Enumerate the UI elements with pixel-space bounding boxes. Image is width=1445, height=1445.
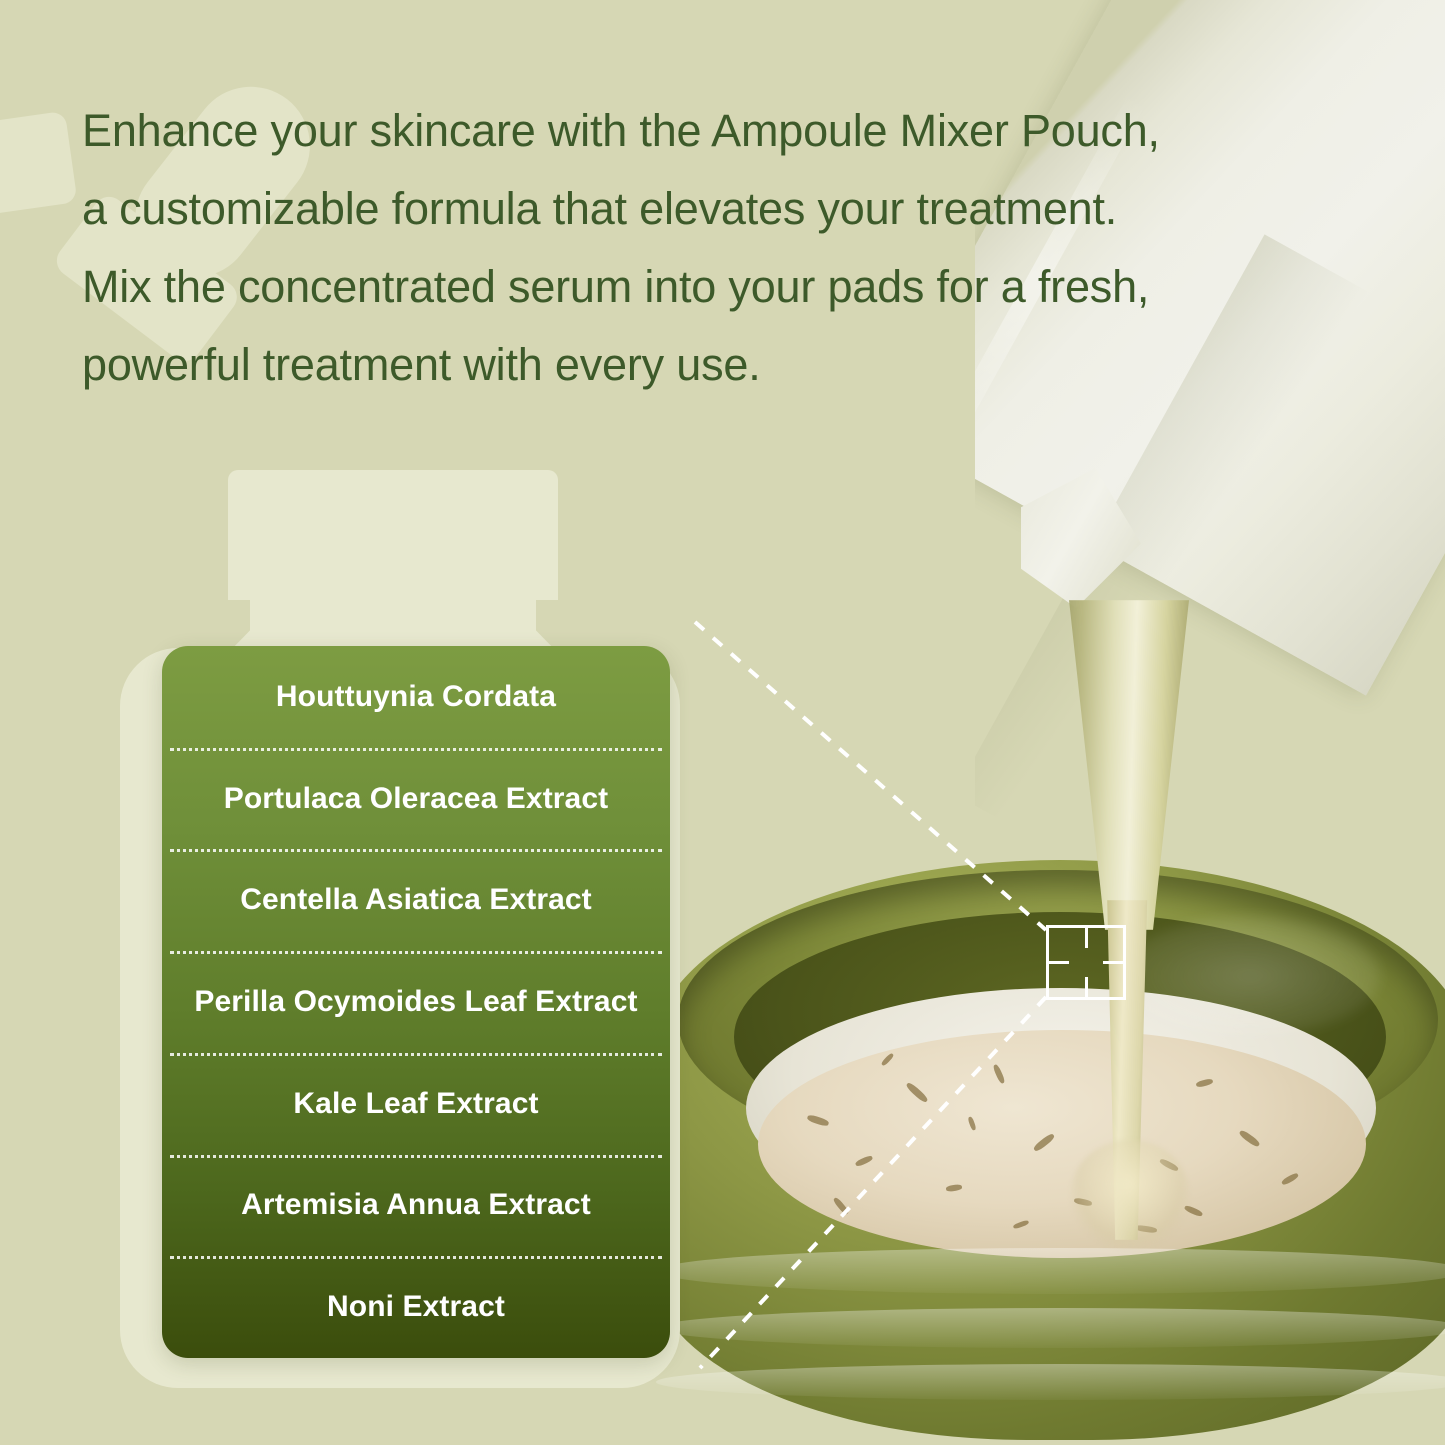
jar-rim: [678, 870, 1438, 1170]
headline-copy: Enhance your skincare with the Ampoule M…: [82, 92, 1382, 404]
headline-line-4: powerful treatment with every use.: [82, 326, 1382, 404]
bottle-cap-lip-right: [438, 496, 470, 558]
promo-banner: Houttuynia Cordata Portulaca Oleracea Ex…: [0, 0, 1445, 1445]
headline-line-3: Mix the concentrated serum into your pad…: [82, 248, 1382, 326]
ingredient-label: Centella Asiatica Extract: [240, 883, 592, 917]
jar-ring-middle: [656, 1308, 1445, 1348]
headline-line-1: Enhance your skincare with the Ampoule M…: [82, 92, 1382, 170]
callout-line-upper: [695, 622, 1046, 930]
pouch-spout: [1021, 468, 1141, 608]
bottle-cap: [228, 470, 558, 600]
headline-line-2: a customizable formula that elevates you…: [82, 170, 1382, 248]
pour-stream-upper: [1060, 600, 1210, 930]
ingredient-label: Perilla Ocymoides Leaf Extract: [194, 985, 637, 1019]
ingredient-label: Portulaca Oleracea Extract: [224, 782, 608, 816]
ingredient-item-6: Artemisia Annua Extract: [162, 1155, 670, 1257]
jar-ring-upper: [656, 1248, 1445, 1294]
jar-pad-stack: [746, 988, 1376, 1228]
ingredient-item-1: Houttuynia Cordata: [162, 646, 670, 748]
jar-highlight: [1120, 916, 1380, 1036]
serum-pour-stream: [1030, 600, 1260, 1240]
pour-splash: [1070, 1140, 1190, 1250]
ingredient-item-4: Perilla Ocymoides Leaf Extract: [162, 951, 670, 1053]
ingredient-item-3: Centella Asiatica Extract: [162, 849, 670, 951]
jar-liquid-surface: [758, 1030, 1366, 1258]
focus-reticle-icon: [1046, 925, 1126, 1000]
ingredient-item-7: Noni Extract: [162, 1256, 670, 1358]
ingredient-label: Houttuynia Cordata: [276, 680, 556, 714]
reticle-tick-left: [1049, 961, 1069, 964]
reticle-tick-bottom: [1085, 977, 1088, 997]
ingredient-item-5: Kale Leaf Extract: [162, 1053, 670, 1155]
jar-ring-lower: [656, 1364, 1445, 1400]
callout-line-lower: [700, 997, 1046, 1368]
dropper-stem: [0, 111, 78, 261]
ingredient-list-panel: Houttuynia Cordata Portulaca Oleracea Ex…: [162, 646, 670, 1358]
bottle-cap-lip-left: [316, 496, 348, 558]
ingredient-label: Artemisia Annua Extract: [241, 1188, 591, 1222]
ingredient-item-2: Portulaca Oleracea Extract: [162, 748, 670, 850]
reticle-tick-right: [1103, 961, 1123, 964]
ingredient-label: Kale Leaf Extract: [293, 1087, 538, 1121]
ingredient-label: Noni Extract: [327, 1290, 505, 1324]
reticle-tick-top: [1085, 928, 1088, 948]
